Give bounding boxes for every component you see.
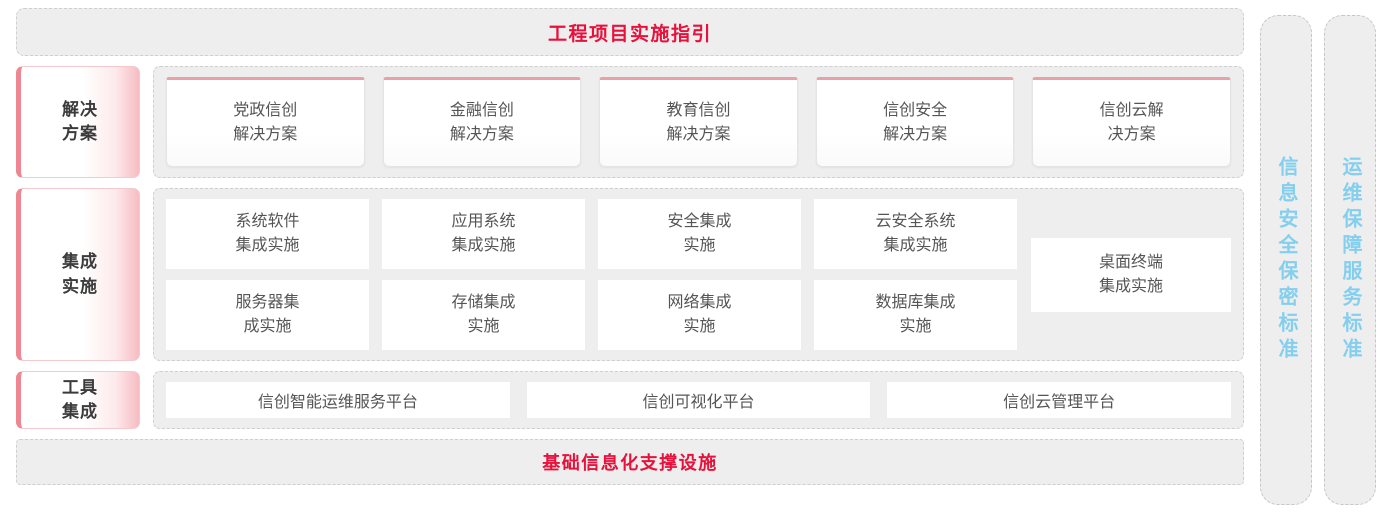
row-label-solutions-line1: 解决 [62, 100, 98, 119]
tools-card-grid: 信创智能运维服务平台 信创可视化平台 信创云管理平台 [166, 382, 1231, 418]
integration-card-label: 桌面终端集成实施 [1099, 251, 1163, 299]
integration-card-label: 网络集成实施 [667, 291, 731, 339]
solution-card[interactable]: 金融信创解决方案 [383, 77, 582, 167]
integration-card-label: 系统软件集成实施 [235, 210, 299, 258]
main-column: 工程项目实施指引 解决 方案 党政信创解决方案 金融信创解决方案 [16, 8, 1244, 507]
tool-card-label: 信创云管理平台 [1003, 388, 1115, 412]
solution-card-label: 金融信创解决方案 [450, 99, 514, 147]
panel-integration: 系统软件集成实施 应用系统集成实施 安全集成实施 云安全系统集成实施 服务器集成 [153, 188, 1244, 361]
integration-card-label: 数据库集成实施 [875, 291, 955, 339]
solution-card-label: 信创安全解决方案 [883, 99, 947, 147]
row-label-integration-line1: 集成 [62, 252, 98, 271]
integration-card-grid: 系统软件集成实施 应用系统集成实施 安全集成实施 云安全系统集成实施 服务器集成 [166, 199, 1017, 350]
integration-card[interactable]: 数据库集成实施 [814, 280, 1017, 350]
integration-card[interactable]: 应用系统集成实施 [382, 199, 585, 269]
solution-card[interactable]: 教育信创解决方案 [599, 77, 798, 167]
tool-card-label: 信创可视化平台 [643, 388, 755, 412]
integration-side-slot: 桌面终端集成实施 [1031, 199, 1231, 350]
row-label-integration-text: 集成 实施 [62, 250, 98, 298]
row-label-tools-line1: 工具 [62, 378, 98, 397]
row-label-tools: 工具 集成 [16, 371, 140, 429]
side-columns: 信息安全保密标准 运维保障服务标准 [1260, 8, 1376, 507]
row-label-tools-text: 工具 集成 [62, 376, 98, 424]
bottom-banner: 基础信息化支撑设施 [16, 439, 1244, 485]
integration-card-desktop-terminal[interactable]: 桌面终端集成实施 [1031, 238, 1231, 312]
page-title: 工程项目实施指引 [548, 19, 712, 46]
integration-card-label: 云安全系统集成实施 [875, 210, 955, 258]
integration-card-label: 安全集成实施 [667, 210, 731, 258]
top-banner: 工程项目实施指引 [16, 8, 1244, 56]
row-label-solutions-line2: 方案 [62, 124, 98, 143]
side-column-ops-standard-label: 运维保障服务标准 [1340, 156, 1360, 364]
row-label-integration-line2: 实施 [62, 277, 98, 296]
row-label-solutions-text: 解决 方案 [62, 98, 98, 146]
tool-card[interactable]: 信创可视化平台 [527, 382, 871, 418]
row-solutions: 解决 方案 党政信创解决方案 金融信创解决方案 教育信创解决方案 [16, 66, 1244, 178]
row-label-integration: 集成 实施 [16, 188, 140, 361]
diagram-root: 工程项目实施指引 解决 方案 党政信创解决方案 金融信创解决方案 [0, 0, 1390, 515]
solution-card[interactable]: 党政信创解决方案 [166, 77, 365, 167]
row-tools: 工具 集成 信创智能运维服务平台 信创可视化平台 信创云管理平台 [16, 371, 1244, 429]
tool-card[interactable]: 信创云管理平台 [887, 382, 1231, 418]
tool-card-label: 信创智能运维服务平台 [258, 388, 418, 412]
integration-card[interactable]: 存储集成实施 [382, 280, 585, 350]
solution-card[interactable]: 信创安全解决方案 [816, 77, 1015, 167]
solution-card-label: 信创云解决方案 [1100, 99, 1164, 147]
integration-card[interactable]: 安全集成实施 [598, 199, 801, 269]
integration-card[interactable]: 网络集成实施 [598, 280, 801, 350]
side-column-ops-standard[interactable]: 运维保障服务标准 [1324, 15, 1376, 505]
integration-card[interactable]: 系统软件集成实施 [166, 199, 369, 269]
integration-card-label: 服务器集成实施 [235, 291, 299, 339]
solution-card-label: 教育信创解决方案 [666, 99, 730, 147]
side-column-security-standard-label: 信息安全保密标准 [1276, 156, 1296, 364]
panel-solutions: 党政信创解决方案 金融信创解决方案 教育信创解决方案 信创安全解决方案 信创云解… [153, 66, 1244, 178]
integration-card-label: 存储集成实施 [451, 291, 515, 339]
footer-title: 基础信息化支撑设施 [542, 449, 718, 475]
solution-card-label: 党政信创解决方案 [233, 99, 297, 147]
row-integration: 集成 实施 系统软件集成实施 应用系统集成实施 安全集成实施 [16, 188, 1244, 361]
integration-card[interactable]: 云安全系统集成实施 [814, 199, 1017, 269]
integration-card[interactable]: 服务器集成实施 [166, 280, 369, 350]
integration-wrap: 系统软件集成实施 应用系统集成实施 安全集成实施 云安全系统集成实施 服务器集成 [166, 199, 1231, 350]
solution-card[interactable]: 信创云解决方案 [1032, 77, 1231, 167]
side-column-security-standard[interactable]: 信息安全保密标准 [1260, 15, 1312, 505]
panel-tools: 信创智能运维服务平台 信创可视化平台 信创云管理平台 [153, 371, 1244, 429]
row-label-solutions: 解决 方案 [16, 66, 140, 178]
tool-card[interactable]: 信创智能运维服务平台 [166, 382, 510, 418]
solutions-card-grid: 党政信创解决方案 金融信创解决方案 教育信创解决方案 信创安全解决方案 信创云解… [166, 77, 1231, 167]
row-label-tools-line2: 集成 [62, 402, 98, 421]
integration-card-label: 应用系统集成实施 [451, 210, 515, 258]
